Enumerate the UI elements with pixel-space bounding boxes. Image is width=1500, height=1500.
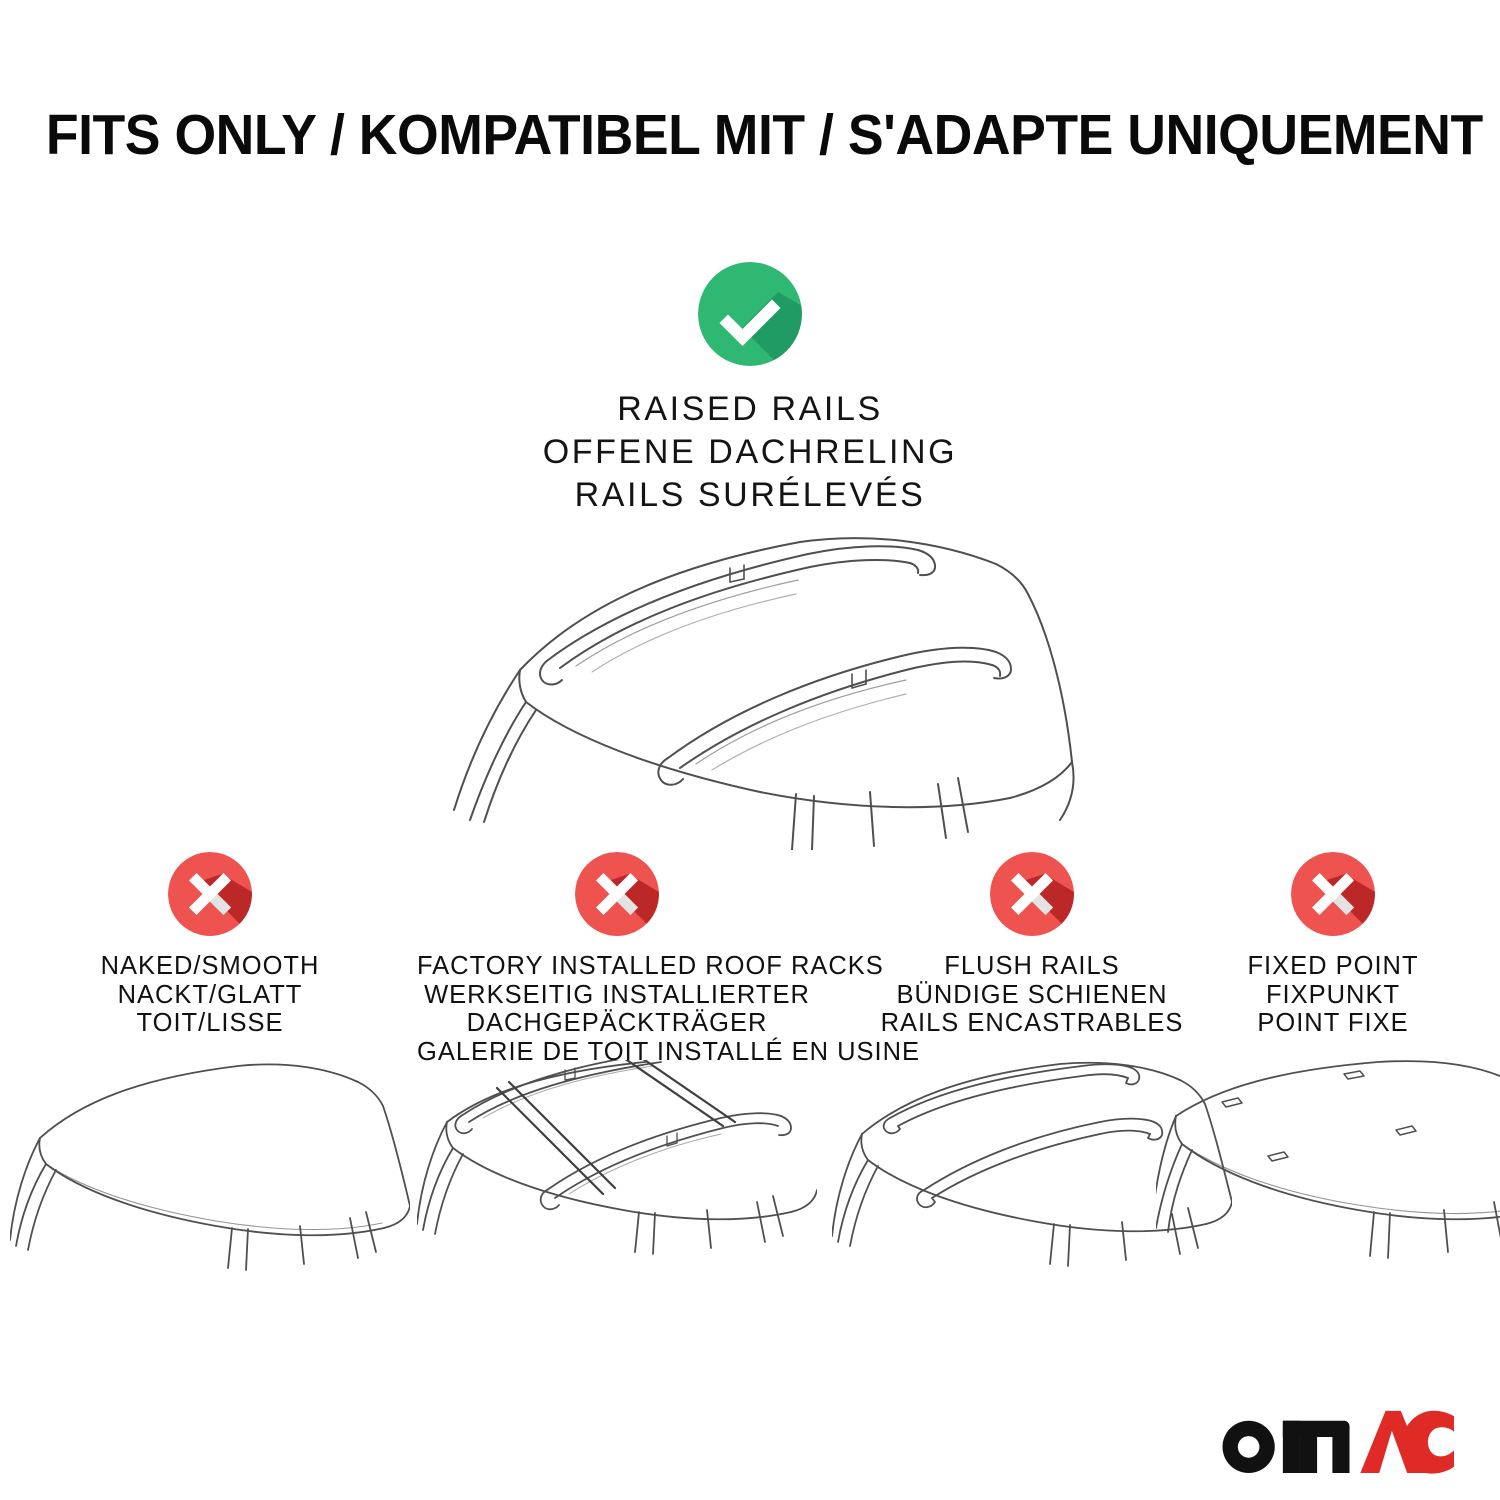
check-circle-icon bbox=[698, 262, 802, 366]
car-roof-factory-roof-racks-illustration bbox=[417, 1060, 817, 1310]
compatible-labels: RAISED RAILS OFFENE DACHRELING RAILS SUR… bbox=[0, 388, 1500, 517]
compatible-label-line-2: OFFENE DACHRELING bbox=[0, 431, 1500, 474]
cross-circle-icon bbox=[990, 852, 1074, 936]
page-title: FITS ONLY / KOMPATIBEL MIT / S'ADAPTE UN… bbox=[46, 104, 1483, 166]
compatible-label-line-1: RAISED RAILS bbox=[0, 388, 1500, 431]
compatible-label-line-3: RAILS SURÉLEVÉS bbox=[0, 474, 1500, 517]
cross-circle-icon bbox=[575, 852, 659, 936]
page-title-bar: FITS ONLY / KOMPATIBEL MIT / S'ADAPTE UN… bbox=[0, 104, 1500, 166]
label-line: NACKT/GLATT bbox=[10, 981, 410, 1010]
incompatible-item-factory-roof-racks: FACTORY INSTALLED ROOF RACKS WERKSEITIG … bbox=[417, 852, 817, 1066]
label-line: NAKED/SMOOTH bbox=[10, 952, 410, 981]
label-line: WERKSEITIG INSTALLIERTER bbox=[417, 981, 817, 1010]
logo-letter-m bbox=[1283, 1420, 1350, 1472]
cross-circle-icon bbox=[168, 852, 252, 936]
label-line: TOIT/LISSE bbox=[10, 1009, 410, 1038]
car-roof-fixed-point-illustration bbox=[1156, 1060, 1500, 1310]
incompatible-labels-naked-smooth: NAKED/SMOOTH NACKT/GLATT TOIT/LISSE bbox=[10, 952, 410, 1038]
logo-letter-c bbox=[1402, 1410, 1454, 1473]
incompatible-item-fixed-point: FIXED POINT FIXPUNKT POINT FIXE bbox=[1133, 852, 1500, 1038]
compatible-section: RAISED RAILS OFFENE DACHRELING RAILS SUR… bbox=[0, 262, 1500, 517]
logo-letter-o bbox=[1223, 1420, 1275, 1472]
label-line: DACHGEPÄCKTRÄGER bbox=[417, 1009, 817, 1038]
incompatible-section: NAKED/SMOOTH NACKT/GLATT TOIT/LISSE bbox=[0, 852, 1500, 1142]
car-roof-raised-rails-illustration bbox=[400, 520, 1100, 850]
omac-logo bbox=[1209, 1410, 1454, 1472]
label-line: POINT FIXE bbox=[1133, 1009, 1500, 1038]
incompatible-labels-fixed-point: FIXED POINT FIXPUNKT POINT FIXE bbox=[1133, 952, 1500, 1038]
cross-circle-icon bbox=[1291, 852, 1375, 936]
car-roof-naked-smooth-illustration bbox=[10, 1060, 410, 1310]
incompatible-labels-factory-roof-racks: FACTORY INSTALLED ROOF RACKS WERKSEITIG … bbox=[417, 952, 817, 1066]
label-line: FACTORY INSTALLED ROOF RACKS bbox=[417, 952, 817, 981]
incompatible-item-naked-smooth: NAKED/SMOOTH NACKT/GLATT TOIT/LISSE bbox=[10, 852, 410, 1038]
label-line: FIXPUNKT bbox=[1133, 981, 1500, 1010]
label-line: FIXED POINT bbox=[1133, 952, 1500, 981]
